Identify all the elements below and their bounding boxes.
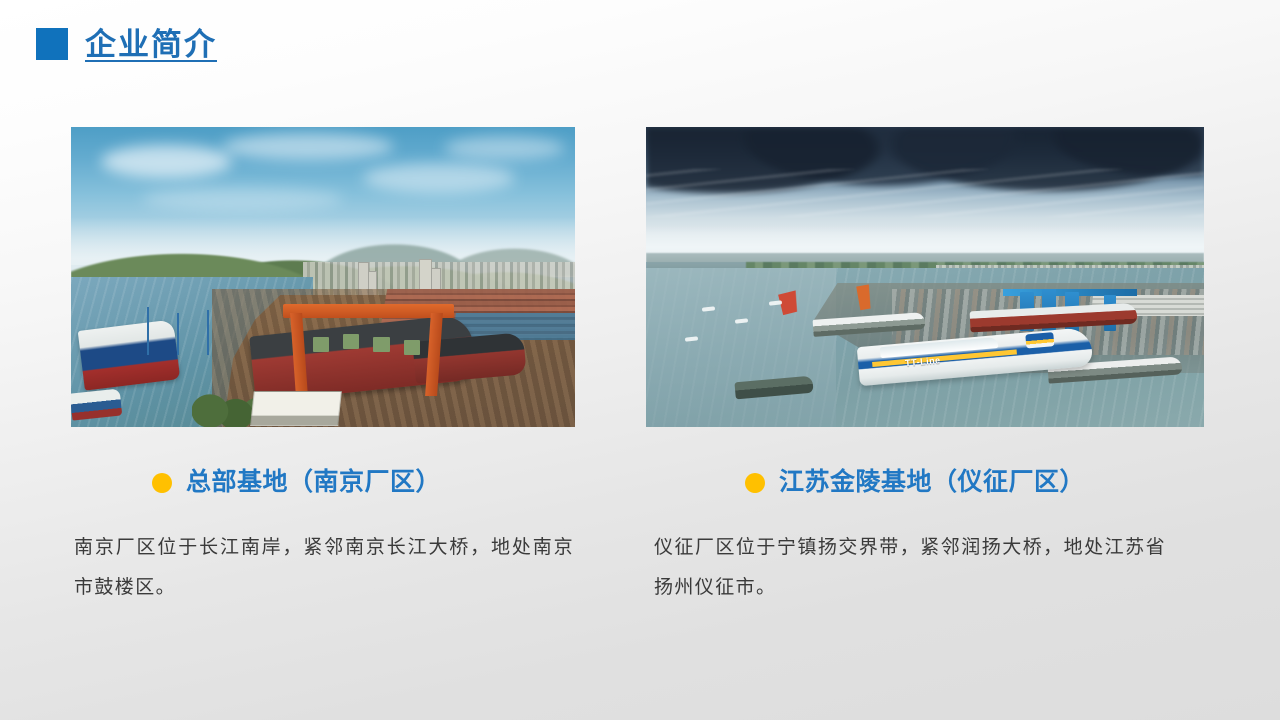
dock-crane	[177, 313, 179, 355]
ferry-funnel	[1025, 332, 1054, 348]
site-building	[251, 391, 342, 426]
cloud-icon	[363, 163, 514, 193]
crane-beam	[283, 304, 454, 318]
crane-leg	[290, 313, 308, 396]
column-nanjing: 总部基地（南京厂区） 南京厂区位于长江南岸，紧邻南京长江大桥，地处南京市鼓楼区。	[71, 127, 575, 427]
photo-nanjing-plant	[71, 127, 575, 427]
cloud-streaks	[646, 169, 1204, 217]
bullet-dot-icon	[745, 473, 765, 493]
cargo-ship	[78, 319, 180, 390]
body-nanjing: 南京厂区位于长江南岸，紧邻南京长江大桥，地处南京市鼓楼区。	[74, 528, 574, 608]
photo-yizheng-plant: TT-Line	[646, 127, 1204, 427]
cargo-ship	[71, 388, 123, 420]
caption-yizheng: 江苏金陵基地（仪征厂区）	[745, 470, 1085, 495]
dock-crane	[207, 310, 209, 355]
cloud-icon	[444, 136, 565, 160]
square-bullet-icon	[36, 28, 68, 60]
slide-canvas: 企业简介	[0, 0, 1280, 720]
column-yizheng: TT-Line 江苏金陵基地（仪征厂区） 仪征厂区位于宁镇扬交界带，紧邻润扬大桥…	[646, 127, 1204, 427]
caption-nanjing-label: 总部基地（南京厂区）	[186, 470, 441, 495]
caption-yizheng-label: 江苏金陵基地（仪征厂区）	[779, 470, 1085, 495]
ferry-name-label: TT-Line	[905, 355, 941, 368]
caption-nanjing: 总部基地（南京厂区）	[152, 470, 441, 495]
page-title: 企业简介	[85, 29, 217, 60]
photo-yizheng-render: TT-Line	[646, 127, 1204, 427]
bullet-dot-icon	[152, 473, 172, 493]
body-yizheng: 仪征厂区位于宁镇扬交界带，紧邻润扬大桥，地处江苏省扬州仪征市。	[654, 528, 1166, 608]
cloud-icon	[101, 145, 232, 178]
gantry-crane	[283, 304, 454, 394]
cloud-icon	[222, 133, 393, 160]
dock-crane	[147, 307, 149, 355]
crane-leg	[425, 313, 443, 396]
cloud-icon	[142, 187, 344, 211]
photo-nanjing-render	[71, 127, 575, 427]
section-heading: 企业简介	[36, 28, 217, 60]
